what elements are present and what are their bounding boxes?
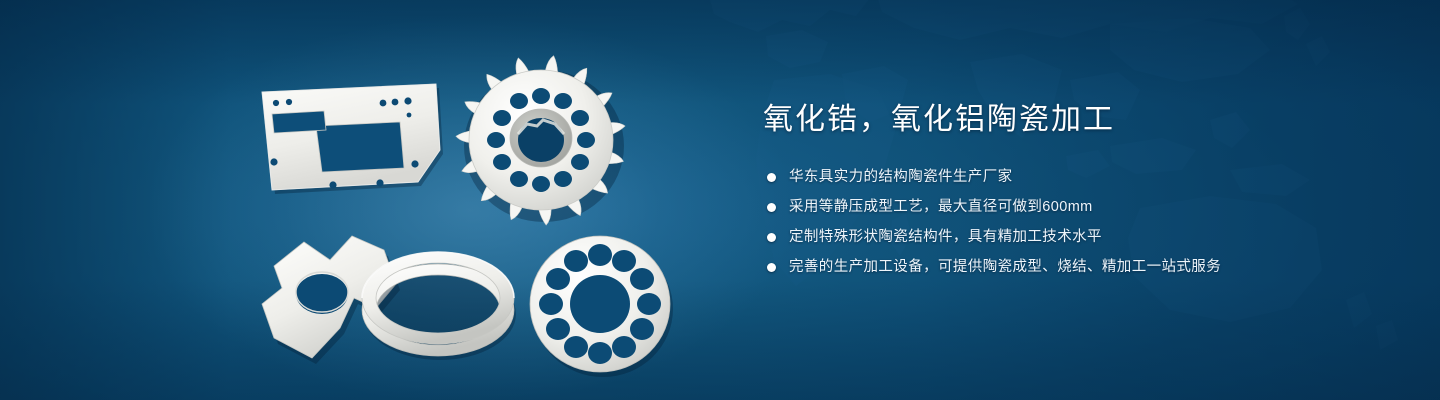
- feature-text: 定制特殊形状陶瓷结构件，具有精加工技术水平: [789, 226, 1102, 248]
- bullet-dot-icon: [767, 233, 776, 242]
- feature-list-item: 采用等静压成型工艺，最大直径可做到600mm: [767, 196, 1323, 218]
- bullet-dot-icon: [767, 203, 776, 212]
- banner-copy: 氧化锆，氧化铝陶瓷加工 华东具实力的结构陶瓷件生产厂家 采用等静压成型工艺，最大…: [763, 100, 1323, 286]
- feature-list-item: 华东具实力的结构陶瓷件生产厂家: [767, 166, 1323, 188]
- bullet-dot-icon: [767, 263, 776, 272]
- feature-text: 华东具实力的结构陶瓷件生产厂家: [789, 166, 1013, 188]
- feature-text: 完善的生产加工设备，可提供陶瓷成型、烧结、精加工一站式服务: [789, 256, 1221, 278]
- feature-list-item: 完善的生产加工设备，可提供陶瓷成型、烧结、精加工一站式服务: [767, 256, 1323, 278]
- bullet-dot-icon: [767, 173, 776, 182]
- banner-headline: 氧化锆，氧化铝陶瓷加工: [763, 100, 1323, 140]
- feature-text: 采用等静压成型工艺，最大直径可做到600mm: [789, 196, 1093, 218]
- product-banner: 氧化锆，氧化铝陶瓷加工 华东具实力的结构陶瓷件生产厂家 采用等静压成型工艺，最大…: [0, 0, 1440, 400]
- feature-list-item: 定制特殊形状陶瓷结构件，具有精加工技术水平: [767, 226, 1323, 248]
- feature-list: 华东具实力的结构陶瓷件生产厂家 采用等静压成型工艺，最大直径可做到600mm 定…: [767, 166, 1323, 278]
